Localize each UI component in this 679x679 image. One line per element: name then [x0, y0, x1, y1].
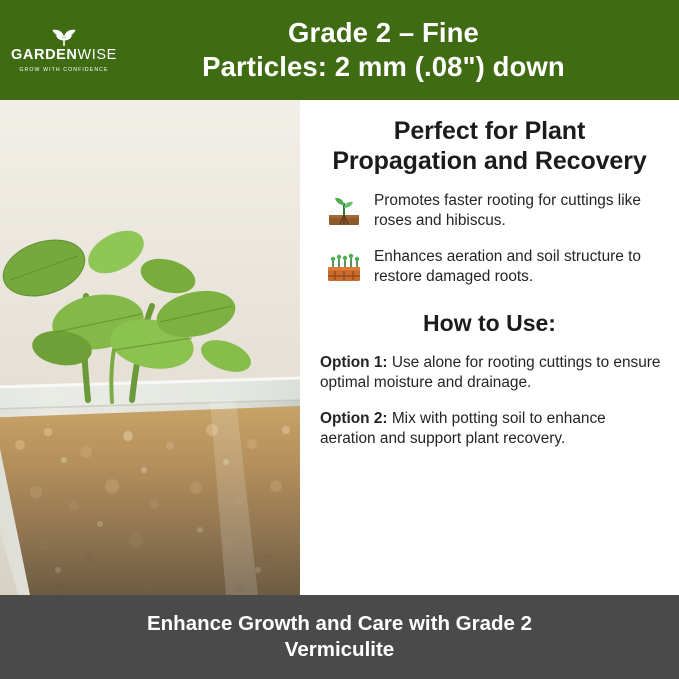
headline-line1: Perfect for Plant: [318, 116, 661, 146]
footer-text-line1: Enhance Growth and Care with Grade 2: [105, 611, 575, 637]
howto-title: How to Use:: [318, 310, 661, 337]
page-title-line2: Particles: 2 mm (.08") down: [128, 50, 639, 84]
brand-name: GARDENWISE: [11, 48, 117, 63]
option-label: Option 2:: [320, 410, 388, 427]
option-label: Option 1:: [320, 354, 388, 371]
content-panel: Perfect for Plant Propagation and Recove…: [300, 100, 679, 595]
page-title: Grade 2 – Fine Particles: 2 mm (.08") do…: [128, 16, 679, 83]
usage-option: Option 1: Use alone for rooting cuttings…: [320, 353, 661, 393]
benefit-item: Promotes faster rooting for cuttings lik…: [322, 190, 661, 232]
brand-logo: GARDENWISE GROW WITH CONFIDENCE: [0, 0, 128, 100]
header-banner: GARDENWISE GROW WITH CONFIDENCE Grade 2 …: [0, 0, 679, 100]
seedlings-in-vermiculite-photo: [0, 100, 300, 595]
footer-text: Enhance Growth and Care with Grade 2 Ver…: [105, 611, 575, 663]
footer-banner: Enhance Growth and Care with Grade 2 Ver…: [0, 595, 679, 679]
seedling-in-soil-icon: [322, 190, 366, 232]
footer-text-line2: Vermiculite: [105, 637, 575, 663]
benefit-text: Promotes faster rooting for cuttings lik…: [374, 190, 661, 230]
aerated-soil-bed-icon: [322, 246, 366, 288]
usage-option: Option 2: Mix with potting soil to enhan…: [320, 409, 661, 449]
headline-line2: Propagation and Recovery: [318, 146, 661, 176]
brand-tagline: GROW WITH CONFIDENCE: [19, 67, 108, 73]
benefit-text: Enhances aeration and soil structure to …: [374, 246, 661, 286]
product-infographic: GARDENWISE GROW WITH CONFIDENCE Grade 2 …: [0, 0, 679, 679]
sprout-icon: [44, 27, 84, 47]
headline: Perfect for Plant Propagation and Recove…: [318, 116, 661, 176]
page-title-line1: Grade 2 – Fine: [128, 16, 639, 50]
benefit-item: Enhances aeration and soil structure to …: [322, 246, 661, 288]
